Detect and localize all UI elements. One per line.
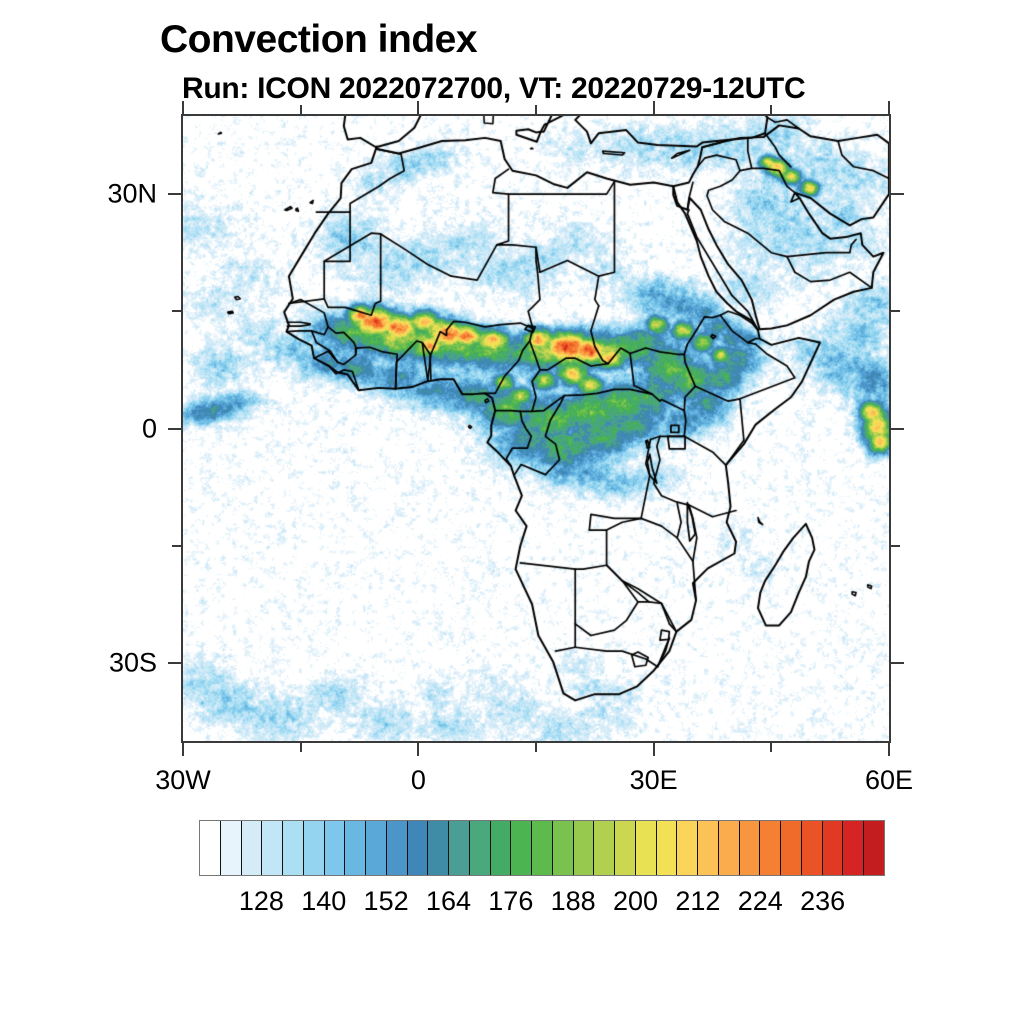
x-axis-tick-minor [535,743,537,752]
x-axis-label: 30W [155,765,211,796]
colorbar-cell [615,821,636,875]
x-axis-tick-minor [770,743,772,752]
colorbar [199,820,885,876]
colorbar-cell [262,821,283,875]
colorbar-cell [843,821,864,875]
colorbar-cell [242,821,263,875]
colorbar-cell [449,821,470,875]
x-axis-tick-minor [535,105,537,114]
colorbar-cell [470,821,491,875]
x-axis-label: 30E [630,765,678,796]
colorbar-tick-label: 224 [738,886,783,917]
convection-index-raster [183,116,889,741]
x-axis-tick-major [653,101,655,114]
y-axis-tick-major [891,428,904,430]
x-axis-tick-major [182,743,184,756]
colorbar-cell [304,821,325,875]
y-axis-tick-major [891,662,904,664]
x-axis-tick-major [653,743,655,756]
x-axis-tick-major [417,101,419,114]
colorbar-cell [823,821,844,875]
colorbar-cell [345,821,366,875]
convection-index-figure: Convection index Run: ICON 2022072700, V… [0,0,1024,1024]
x-axis-tick-minor [770,105,772,114]
x-axis-tick-major [182,101,184,114]
y-axis-tick-minor [172,545,181,547]
colorbar-cell [594,821,615,875]
colorbar-tick-label: 152 [364,886,409,917]
colorbar-tick-label: 176 [488,886,533,917]
colorbar-tick-label: 236 [800,886,845,917]
y-axis-label: 30S [0,647,157,678]
colorbar-cell [760,821,781,875]
colorbar-tick-label: 200 [613,886,658,917]
y-axis-tick-minor [172,310,181,312]
page-title: Convection index [160,18,477,62]
colorbar-cell [387,821,408,875]
colorbar-cell [366,821,387,875]
colorbar-cell [740,821,761,875]
colorbar-cell [532,821,553,875]
x-axis-tick-major [888,743,890,756]
colorbar-cell [781,821,802,875]
colorbar-tick-label: 212 [675,886,720,917]
colorbar-cell [408,821,429,875]
y-axis-tick-major [168,193,181,195]
y-axis-tick-minor [891,545,900,547]
map-plot-area [181,114,891,743]
colorbar-cell [428,821,449,875]
x-axis-label: 0 [411,765,426,796]
x-axis-tick-major [417,743,419,756]
colorbar-tick-label: 140 [301,886,346,917]
colorbar-cell [491,821,512,875]
x-axis-tick-minor [300,105,302,114]
colorbar-cell [698,821,719,875]
x-axis-tick-minor [300,743,302,752]
colorbar-tick-label: 128 [239,886,284,917]
y-axis-label: 30N [0,179,157,210]
colorbar-cell [325,821,346,875]
colorbar-cell [802,821,823,875]
colorbar-cell [553,821,574,875]
colorbar-cell [636,821,657,875]
colorbar-cell [719,821,740,875]
colorbar-cell [677,821,698,875]
colorbar-tick-label: 188 [551,886,596,917]
y-axis-tick-minor [891,310,900,312]
colorbar-cell [864,821,884,875]
colorbar-cell [200,821,221,875]
y-axis-tick-major [168,662,181,664]
colorbar-cell [221,821,242,875]
y-axis-tick-major [891,193,904,195]
colorbar-tick-label: 164 [426,886,471,917]
x-axis-tick-major [888,101,890,114]
run-valid-time-subtitle: Run: ICON 2022072700, VT: 20220729-12UTC [182,72,805,106]
colorbar-cell [511,821,532,875]
colorbar-cell [283,821,304,875]
colorbar-cell [657,821,678,875]
x-axis-label: 60E [865,765,913,796]
y-axis-tick-major [168,428,181,430]
colorbar-cell [574,821,595,875]
y-axis-label: 0 [0,413,157,444]
